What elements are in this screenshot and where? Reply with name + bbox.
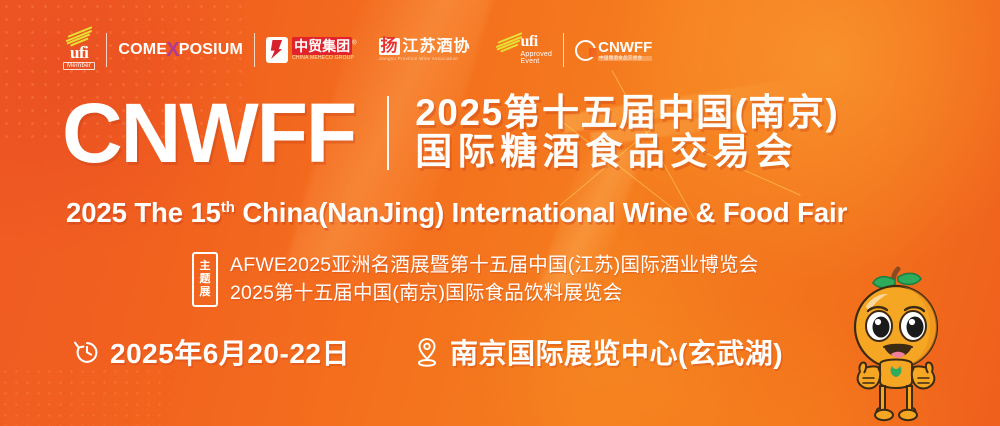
china-meheco-group-logo[interactable]: 中贸集团® CHINA MEHECO GROUP <box>255 27 367 73</box>
ufi-approved-text: ufi <box>521 34 553 51</box>
comexposium-pre: COME <box>118 41 167 59</box>
comexposium-x: X <box>166 39 180 62</box>
meheco-cn-name: 中贸集团 <box>292 37 352 55</box>
english-subtitle-pre: 2025 The 15 <box>66 197 221 228</box>
meheco-en-name: CHINA MEHECO GROUP <box>292 56 356 61</box>
partner-logo-bar: ufi Member COMEXPOSIUM 中贸集团® CHINA MEHEC… <box>52 27 663 73</box>
theme-exhibitions: 主 题 展 AFWE2025亚洲名酒展暨第十五届中国(江苏)国际酒业博览会 20… <box>192 252 758 307</box>
comexposium-logo[interactable]: COMEXPOSIUM <box>107 27 254 73</box>
headline-divider <box>387 96 389 170</box>
event-date: 2025年6月20-22日 <box>72 332 350 372</box>
chinese-title: 2025第十五届中国(南京) 国际糖酒食品交易会 <box>415 94 839 172</box>
cnwff-logo-text: CNWFF <box>598 40 652 55</box>
event-meta: 2025年6月20-22日 南京国际展览中心(玄武湖) <box>72 332 783 372</box>
exhibition-banner: ufi Member COMEXPOSIUM 中贸集团® CHINA MEHEC… <box>0 0 1000 426</box>
ufi-member-logo[interactable]: ufi Member <box>52 27 106 73</box>
orange-mascot-thumbs-up <box>832 264 960 426</box>
theme-line-1: AFWE2025亚洲名酒展暨第十五届中国(江苏)国际酒业博览会 <box>230 252 758 278</box>
comexposium-post: POSIUM <box>179 41 243 59</box>
ufi-member-sub: Member <box>63 62 95 70</box>
cnwff-ring-icon <box>575 40 596 61</box>
headline-block: CNWFF 2025第十五届中国(南京) 国际糖酒食品交易会 <box>62 92 839 174</box>
location-pin-icon <box>412 336 442 368</box>
event-date-text: 2025年6月20-22日 <box>110 332 350 372</box>
theme-badge: 主 题 展 <box>192 252 218 307</box>
event-venue-text: 南京国际展览中心(玄武湖) <box>450 332 783 372</box>
jiangsu-wine-association-logo[interactable]: 扬 江苏酒协 Jiangsu Province Wine Association <box>368 27 482 73</box>
ufi-member-text: ufi <box>70 44 88 61</box>
clock-icon <box>72 337 102 367</box>
page-title: CNWFF <box>62 92 355 174</box>
english-subtitle-post: China(NanJing) International Wine & Food… <box>235 197 847 228</box>
meheco-mark-icon <box>266 37 288 63</box>
cnwff-logo-sub: 中国糖酒食品交易会 <box>598 56 652 61</box>
ufi-approved-line3: Event <box>521 58 553 65</box>
registered-mark-icon: ® <box>352 40 356 46</box>
theme-badge-char-2: 题 <box>200 273 211 285</box>
event-venue: 南京国际展览中心(玄武湖) <box>412 332 783 372</box>
ordinal-suffix: th <box>221 199 235 216</box>
ufi-approved-line2: Approved <box>521 51 553 58</box>
jiangsu-cn-name: 江苏酒协 <box>403 39 471 55</box>
theme-badge-char-3: 展 <box>200 286 211 298</box>
ufi-wing-icon <box>63 30 95 43</box>
cnwff-circle-logo[interactable]: CNWFF 中国糖酒食品交易会 <box>564 27 663 73</box>
theme-line-2: 2025第十五届中国(南京)国际食品饮料展览会 <box>230 280 758 306</box>
jiangsu-seal-icon: 扬 <box>379 38 400 55</box>
chinese-title-line2: 国际糖酒食品交易会 <box>415 133 839 172</box>
english-subtitle: 2025 The 15th China(NanJing) Internation… <box>66 197 847 229</box>
dot-pattern-bottom-left <box>0 366 170 426</box>
chinese-title-line1: 2025第十五届中国(南京) <box>415 94 839 133</box>
ufi-approved-wing-icon <box>493 36 519 48</box>
theme-badge-char-1: 主 <box>200 260 211 272</box>
ufi-approved-event-logo[interactable]: ufi Approved Event <box>482 27 564 73</box>
jiangsu-en-name: Jiangsu Province Wine Association <box>379 57 459 62</box>
